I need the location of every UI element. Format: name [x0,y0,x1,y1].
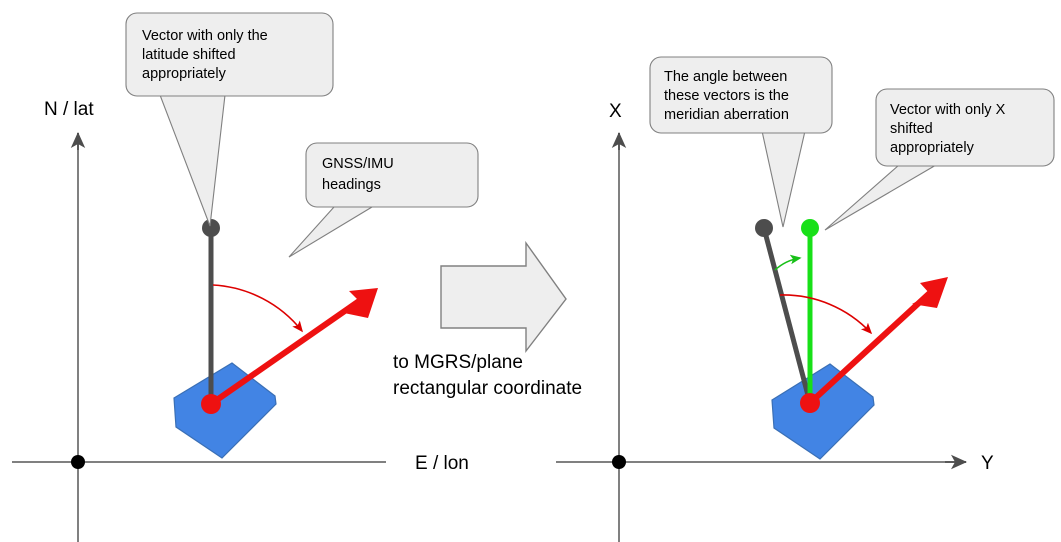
right-axis-x-label: Y [981,453,994,474]
right-heading-angle-arc [780,295,871,333]
transition-label-line-1: to MGRS/plane [393,352,523,373]
callout-gnss-imu-box [306,143,478,207]
callout-x-shifted-line-2: shifted [890,121,933,137]
right-true-north-vector [765,232,810,403]
right-heading-vector [810,290,933,403]
diagram-root: N / lat E / lon Vector with only the lat… [0,0,1061,542]
callout-gnss-imu-line-2: headings [322,177,381,193]
callout-x-shifted-tail [825,165,936,230]
coordinate-transform-diagram: N / lat E / lon Vector with only the lat… [0,0,1061,542]
left-axis-y-label: N / lat [44,99,94,120]
callout-lat-shifted-tail [160,95,225,226]
callout-lat-shifted: Vector with only the latitude shifted ap… [126,13,333,226]
transition-label-line-2: rectangular coordinate [393,378,582,399]
right-origin-point [612,455,626,469]
right-vehicle-origin-point [800,393,820,413]
callout-meridian-aberration-line-2: these vectors is the [664,88,789,104]
transition-arrow-icon [441,243,566,351]
callout-lat-shifted-line-3: appropriately [142,66,227,82]
transition-group: to MGRS/plane rectangular coordinate [393,243,582,399]
callout-x-shifted-line-1: Vector with only X [890,102,1006,118]
callout-meridian-aberration-line-3: meridian aberration [664,107,789,123]
callout-lat-shifted-line-2: latitude shifted [142,47,236,63]
callout-gnss-imu-line-1: GNSS/IMU [322,156,394,172]
right-panel: X Y The angle between these vectors is t… [556,57,1054,542]
right-grid-north-vector-endpoint [801,219,819,237]
right-axes [556,133,966,542]
callout-gnss-imu-tail [289,207,372,257]
left-panel: N / lat E / lon Vector with only the lat… [12,13,478,542]
right-axis-y-label: X [609,101,622,122]
callout-meridian-aberration: The angle between these vectors is the m… [650,57,832,227]
left-vehicle-origin-point [201,394,221,414]
meridian-aberration-arc [775,258,800,270]
callout-gnss-imu: GNSS/IMU headings [289,143,478,257]
left-heading-angle-arc [213,285,302,331]
left-axis-x-label: E / lon [415,453,469,474]
callout-meridian-aberration-tail [762,131,805,227]
callout-lat-shifted-line-1: Vector with only the [142,28,268,44]
right-heading-vector-arrowhead [912,277,948,308]
callout-x-shifted-line-3: appropriately [890,140,975,156]
left-vehicle-body [174,363,276,458]
left-origin-point [71,455,85,469]
left-heading-vector-arrowhead [344,288,378,318]
right-vehicle-body [772,364,874,459]
callout-meridian-aberration-line-1: The angle between [664,69,787,85]
callout-x-shifted: Vector with only X shifted appropriately [825,89,1054,230]
right-true-north-vector-endpoint [755,219,773,237]
